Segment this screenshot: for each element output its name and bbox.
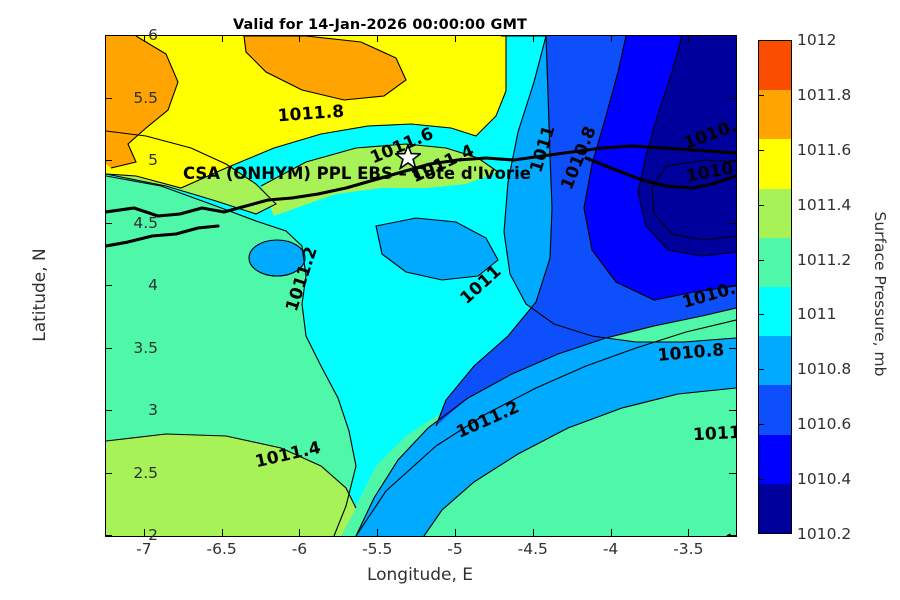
x-tick-label: -3.5 xyxy=(673,540,703,558)
x-tick-top xyxy=(611,35,612,42)
x-tick-label: -6 xyxy=(292,540,307,558)
y-tick-right xyxy=(729,98,736,99)
colorbar-tick xyxy=(758,479,764,480)
colorbar-tick-label: 1011.8 xyxy=(797,86,851,104)
y-tick xyxy=(105,223,112,224)
x-tick-label: -7 xyxy=(136,540,151,558)
y-tick-label: 2.5 xyxy=(133,464,158,482)
x-tick-label: -5.5 xyxy=(362,540,392,558)
contour-field xyxy=(106,36,736,536)
colorbar-tick-label: 1011 xyxy=(797,305,836,323)
x-tick xyxy=(144,529,145,536)
colorbar-band xyxy=(759,189,791,238)
x-tick-top xyxy=(299,35,300,42)
x-tick-label: -4 xyxy=(603,540,618,558)
colorbar-tick-label: 1010.8 xyxy=(797,360,851,378)
colorbar-band xyxy=(759,435,791,484)
y-tick xyxy=(105,160,112,161)
y-tick-right xyxy=(729,160,736,161)
y-tick-right xyxy=(729,285,736,286)
y-tick-label: 6 xyxy=(148,26,158,44)
colorbar-band xyxy=(759,484,791,533)
y-tick xyxy=(105,410,112,411)
y-tick xyxy=(105,98,112,99)
colorbar-tick xyxy=(758,150,764,151)
y-tick xyxy=(105,348,112,349)
x-tick-label: -4.5 xyxy=(518,540,548,558)
colorbar[interactable] xyxy=(758,40,792,534)
colorbar-tick-label: 1011.2 xyxy=(797,251,851,269)
y-tick xyxy=(105,285,112,286)
y-tick-label: 5 xyxy=(148,151,158,169)
colorbar-band xyxy=(759,90,791,139)
x-tick-top xyxy=(688,35,689,42)
colorbar-tick-label: 1010.2 xyxy=(797,525,851,543)
x-tick xyxy=(688,529,689,536)
colorbar-tick-label: 1010.6 xyxy=(797,415,851,433)
figure-root: Valid for 14-Jan-2026 00:00:00 GMT xyxy=(0,0,900,600)
colorbar-band xyxy=(759,41,791,90)
x-tick xyxy=(611,529,612,536)
x-tick-top xyxy=(377,35,378,42)
colorbar-tick xyxy=(758,260,764,261)
y-tick xyxy=(105,535,112,536)
y-tick xyxy=(105,35,112,36)
contour-label: 1011 xyxy=(692,423,737,445)
y-tick-label: 4.5 xyxy=(133,214,158,232)
colorbar-tick-label: 1010.4 xyxy=(797,470,851,488)
colorbar-band xyxy=(759,287,791,336)
x-axis-title: Longitude, E xyxy=(105,565,735,585)
y-tick-label: 5.5 xyxy=(133,89,158,107)
colorbar-tick xyxy=(758,369,764,370)
x-tick-top xyxy=(455,35,456,42)
y-tick-label: 4 xyxy=(148,276,158,294)
y-tick-right xyxy=(729,473,736,474)
site-annotation-label: CSA (ONHYM) PPL EBS – Cote d'Ivorie xyxy=(183,164,531,183)
y-tick-right xyxy=(729,35,736,36)
y-tick-right xyxy=(729,348,736,349)
y-tick-right xyxy=(729,223,736,224)
x-tick-label: -6.5 xyxy=(207,540,237,558)
y-tick-label: 3 xyxy=(148,401,158,419)
colorbar-tick-label: 1011.6 xyxy=(797,141,851,159)
colorbar-tick xyxy=(758,95,764,96)
colorbar-band xyxy=(759,139,791,188)
x-tick-top xyxy=(144,35,145,42)
y-tick-label: 3.5 xyxy=(133,339,158,357)
y-tick-right xyxy=(729,410,736,411)
x-tick xyxy=(377,529,378,536)
colorbar-band xyxy=(759,385,791,434)
y-tick-right xyxy=(729,535,736,536)
x-tick-top xyxy=(533,35,534,42)
figure-title: Valid for 14-Jan-2026 00:00:00 GMT xyxy=(0,17,760,33)
colorbar-tick-label: 1011.4 xyxy=(797,196,851,214)
colorbar-tick-label: 1012 xyxy=(797,31,836,49)
y-tick xyxy=(105,473,112,474)
filled-contour-bands xyxy=(106,36,736,536)
colorbar-tick xyxy=(758,424,764,425)
x-tick xyxy=(533,529,534,536)
x-tick xyxy=(299,529,300,536)
y-axis-title: Latitude, N xyxy=(30,195,50,395)
x-tick xyxy=(455,529,456,536)
colorbar-tick xyxy=(758,314,764,315)
colorbar-title: Surface Pressure, mb xyxy=(871,184,889,404)
contour-plot-area[interactable]: CSA (ONHYM) PPL EBS – Cote d'Ivorie 1011… xyxy=(105,35,737,537)
x-tick-label: -5 xyxy=(447,540,462,558)
x-tick xyxy=(222,529,223,536)
x-tick-top xyxy=(222,35,223,42)
colorbar-tick xyxy=(758,205,764,206)
colorbar-band xyxy=(759,336,791,385)
colorbar-band xyxy=(759,238,791,287)
